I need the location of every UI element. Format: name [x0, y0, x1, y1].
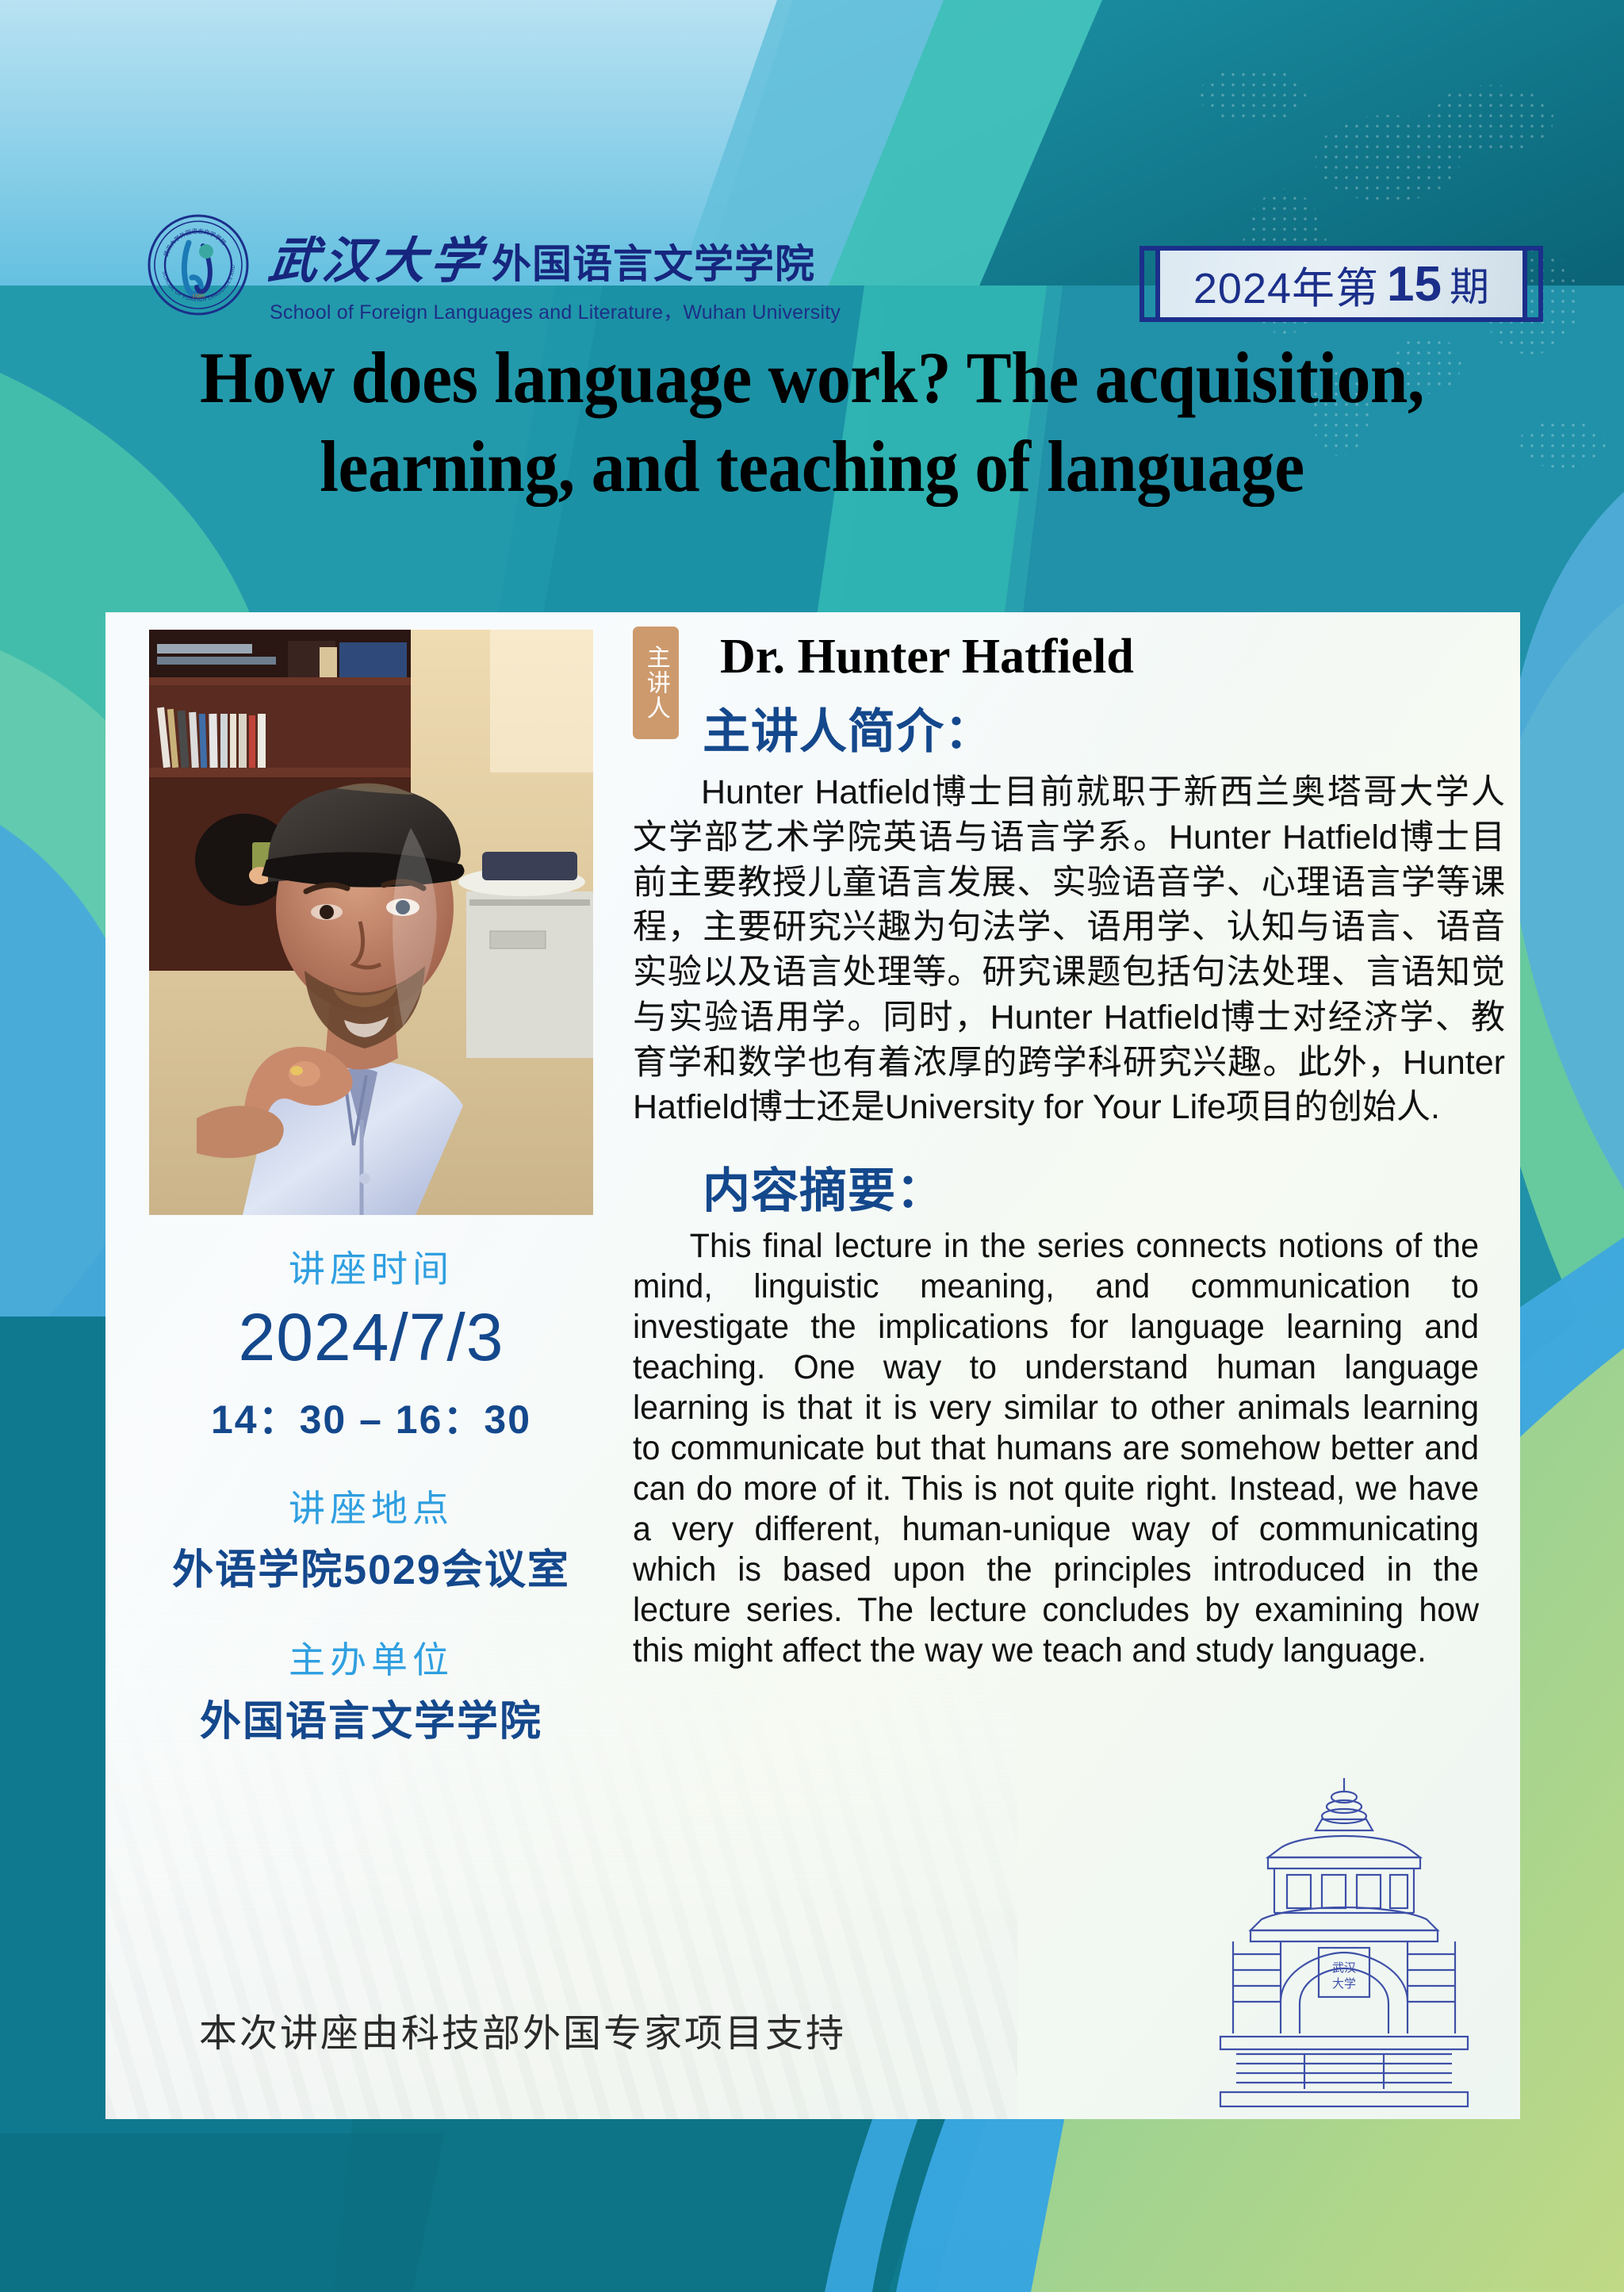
svg-text:武汉大学外国语言文学学院: 武汉大学外国语言文学学院	[162, 228, 228, 258]
speaker-header-row: 主讲人 Dr. Hunter Hatfield	[633, 630, 1505, 684]
school-name-en: School of Foreign Languages and Literatu…	[270, 297, 841, 325]
venue-label: 讲座地点	[125, 1481, 617, 1536]
university-name-cn: 武汉大学	[265, 220, 489, 292]
svg-text:SCHOOL OF FOREIGN LANGUAGES AN: SCHOOL OF FOREIGN LANGUAGES AND LITERATU…	[147, 214, 236, 303]
speaker-photo	[149, 630, 593, 1215]
content-card: 武汉 大学	[105, 612, 1520, 2119]
left-info-column: 讲座时间 2024/7/3 14：30 – 16：30 讲座地点 外语学院502…	[125, 630, 625, 1750]
university-seal-icon: 1893 武汉大学外国语言文学学院 SCHOOL OF FOREIGN LANG…	[147, 214, 249, 316]
issue-prefix: 2024年第	[1193, 253, 1379, 316]
support-footnote: 本次讲座由科技部外国专家项目支持	[199, 2002, 846, 2057]
issue-number: 15	[1387, 256, 1442, 312]
speaker-vertical-badge: 主讲人	[633, 627, 679, 739]
lecture-title: How does language work? The acquisition,…	[133, 333, 1490, 511]
bio-heading: 主讲人简介：	[703, 693, 1505, 762]
school-name-cn: 外国语言文学学院	[492, 232, 815, 289]
lecture-details: 讲座时间 2024/7/3 14：30 – 16：30 讲座地点 外语学院502…	[125, 1242, 617, 1750]
issue-badge: 2024年第 15 期	[1155, 246, 1527, 322]
speaker-name: Dr. Hunter Hatfield	[720, 630, 1134, 684]
university-logo-block: 1893 武汉大学外国语言文学学院 SCHOOL OF FOREIGN LANG…	[147, 214, 841, 325]
svg-text:武汉: 武汉	[1332, 1961, 1356, 1975]
lecture-time-range: 14：30 – 16：30	[125, 1388, 617, 1445]
time-label: 讲座时间	[125, 1242, 617, 1297]
right-content-column: 主讲人 Dr. Hunter Hatfield 主讲人简介： Hunter Ha…	[633, 630, 1505, 1671]
svg-text:大学: 大学	[1332, 1977, 1356, 1991]
lecture-organizer: 外国语言文学学院	[125, 1694, 617, 1750]
speaker-bio-text: Hunter Hatfield博士目前就职于新西兰奥塔哥大学人文学部艺术学院英语…	[633, 770, 1505, 1130]
wuhan-university-gate-icon: 武汉 大学	[1185, 1772, 1503, 2113]
issue-suffix: 期	[1450, 255, 1489, 312]
abstract-text: This final lecture in the series connect…	[633, 1226, 1479, 1671]
lecture-poster: 1893 武汉大学外国语言文学学院 SCHOOL OF FOREIGN LANG…	[0, 0, 1624, 2292]
lecture-date: 2024/7/3	[125, 1298, 617, 1377]
organizer-label: 主办单位	[125, 1633, 617, 1688]
abstract-heading: 内容摘要：	[703, 1152, 1505, 1221]
poster-header: 1893 武汉大学外国语言文学学院 SCHOOL OF FOREIGN LANG…	[0, 95, 1624, 286]
brand-text-block: 武汉大学 外国语言文学学院 School of Foreign Language…	[270, 214, 841, 325]
lecture-venue: 外语学院5029会议室	[125, 1543, 617, 1598]
